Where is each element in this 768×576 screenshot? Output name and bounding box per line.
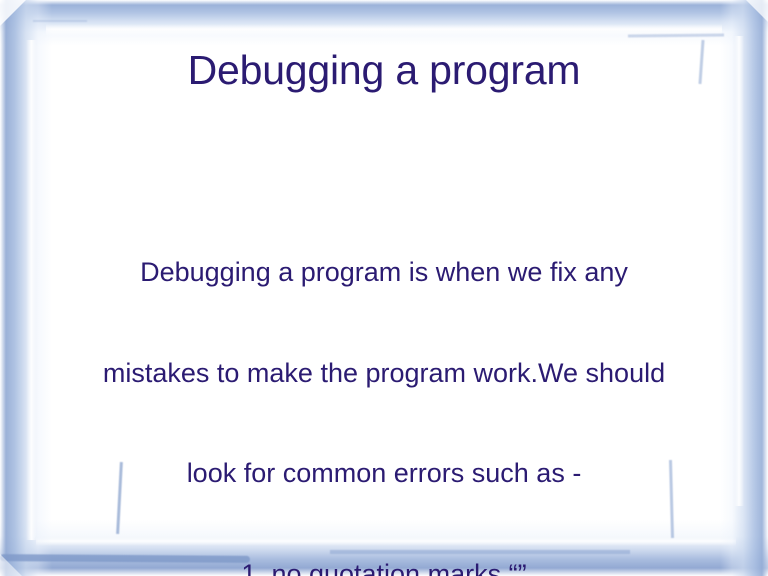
body-line: mistakes to make the program work.We sho…	[52, 357, 716, 391]
body-line: Debugging a program is when we fix any	[52, 256, 716, 290]
slide-title: Debugging a program	[0, 46, 768, 94]
presentation-slide: Debugging a program Debugging a program …	[0, 0, 768, 576]
slide-body-text: Debugging a program is when we fix any m…	[52, 189, 716, 576]
slide-content: Debugging a program Debugging a program …	[0, 0, 768, 576]
body-line-item-1: 1. no quotation marks “”	[52, 558, 716, 576]
body-line: look for common errors such as -	[52, 457, 716, 491]
